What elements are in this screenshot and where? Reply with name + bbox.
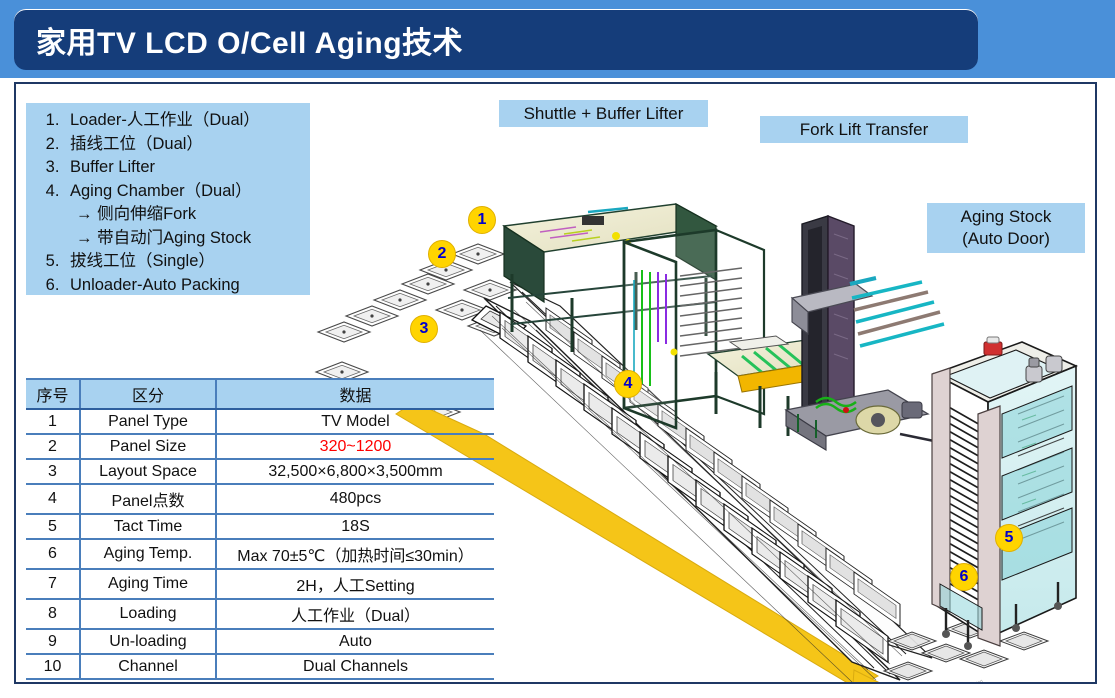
cell-value: 18S [216, 514, 494, 539]
cell-no: 7 [26, 569, 80, 599]
cell-item: Panel点数 [80, 484, 216, 514]
cell-item: Channel [80, 654, 216, 679]
marker-label: 6 [960, 568, 969, 586]
cell-no: 3 [26, 459, 80, 484]
table-row: 1Panel TypeTV Model [26, 409, 494, 434]
cell-item: Loading [80, 599, 216, 629]
callout-fork-lift-transfer: Fork Lift Transfer [760, 116, 968, 143]
process-step-list: Loader-人工作业（Dual） 插线工位（Dual） Buffer Lift… [26, 103, 310, 295]
cell-no: 6 [26, 539, 80, 569]
diagram-marker-2: 2 [428, 240, 456, 268]
table-row: 9Un-loadingAuto [26, 629, 494, 654]
table-row: 7Aging Time2H，人工Setting [26, 569, 494, 599]
callout-aging-stock-line2: (Auto Door) [937, 228, 1075, 250]
cell-value: 480pcs [216, 484, 494, 514]
cell-value: 人工作业（Dual） [216, 599, 494, 629]
sub-list-item: → 侧向伸缩Fork [76, 203, 302, 227]
list-item: Unloader-Auto Packing [64, 274, 302, 298]
cell-item: Aging Time [80, 569, 216, 599]
list-item: 拔线工位（Single） [64, 250, 302, 274]
diagram-marker-1: 1 [468, 206, 496, 234]
cell-item: Panel Size [80, 434, 216, 459]
cell-item: Un-loading [80, 629, 216, 654]
callout-aging-stock: Aging Stock (Auto Door) [927, 203, 1085, 253]
marker-label: 3 [420, 320, 429, 338]
callout-shuttle-buffer-lifter: Shuttle + Buffer Lifter [499, 100, 708, 127]
marker-label: 1 [478, 211, 487, 229]
header-no: 序号 [26, 379, 80, 409]
title-bar: 家用TV LCD O/Cell Aging技术 [14, 9, 978, 70]
list-item: Buffer Lifter [64, 156, 302, 180]
cell-value: Auto [216, 629, 494, 654]
diagram-marker-3: 3 [410, 315, 438, 343]
cell-value: Dual Channels [216, 654, 494, 679]
list-item: Aging Chamber（Dual） [64, 180, 302, 204]
marker-label: 4 [624, 375, 633, 393]
list-item: Loader-人工作业（Dual） [64, 109, 302, 133]
cell-no: 2 [26, 434, 80, 459]
cell-value: 2H，人工Setting [216, 569, 494, 599]
table-row: 3Layout Space32,500×6,800×3,500mm [26, 459, 494, 484]
table-row: 10ChannelDual Channels [26, 654, 494, 679]
cell-item: Tact Time [80, 514, 216, 539]
cell-value: 320~1200 [216, 434, 494, 459]
cell-no: 10 [26, 654, 80, 679]
cell-item: Aging Temp. [80, 539, 216, 569]
spec-table: 序号 区分 数据 1Panel TypeTV Model2Panel Size3… [26, 378, 494, 680]
header-value: 数据 [216, 379, 494, 409]
diagram-marker-4: 4 [614, 370, 642, 398]
table-row: 4Panel点数480pcs [26, 484, 494, 514]
sub-list-item: → 带自动门Aging Stock [76, 227, 302, 251]
diagram-marker-6: 6 [950, 563, 978, 591]
header-item: 区分 [80, 379, 216, 409]
table-header-row: 序号 区分 数据 [26, 379, 494, 409]
cell-no: 9 [26, 629, 80, 654]
cell-value: Max 70±5℃（加热时间≤30min） [216, 539, 494, 569]
cell-item: Layout Space [80, 459, 216, 484]
table-row: 6Aging Temp.Max 70±5℃（加热时间≤30min） [26, 539, 494, 569]
callout-aging-stock-line1: Aging Stock [937, 206, 1075, 228]
cell-no: 8 [26, 599, 80, 629]
cell-value: TV Model [216, 409, 494, 434]
cell-item: Panel Type [80, 409, 216, 434]
cell-no: 4 [26, 484, 80, 514]
marker-label: 2 [438, 245, 447, 263]
table-row: 8Loading人工作业（Dual） [26, 599, 494, 629]
page-title: 家用TV LCD O/Cell Aging技术 [36, 18, 463, 62]
list-item: 插线工位（Dual） [64, 133, 302, 157]
cell-no: 1 [26, 409, 80, 434]
table-row: 2Panel Size320~1200 [26, 434, 494, 459]
diagram-marker-5: 5 [995, 524, 1023, 552]
cell-no: 5 [26, 514, 80, 539]
marker-label: 5 [1005, 529, 1014, 547]
table-row: 5Tact Time18S [26, 514, 494, 539]
cell-value: 32,500×6,800×3,500mm [216, 459, 494, 484]
